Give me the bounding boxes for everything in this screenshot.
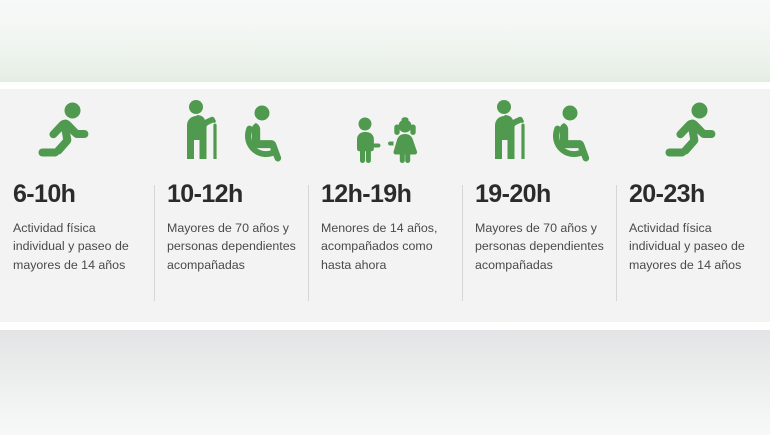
wheelchair-accessibility-icon — [539, 105, 593, 163]
child-girl-icon — [387, 117, 423, 163]
description-4: Mayores de 70 años y personas dependient… — [475, 219, 604, 274]
top-white-gap — [0, 82, 770, 89]
wheelchair-accessibility-icon — [231, 105, 285, 163]
running-person-icon — [37, 101, 97, 163]
hours-label-3: 12h-19h — [321, 182, 450, 207]
schedule-column-3: 12h-19h Menores de 14 años, acompañados … — [308, 89, 462, 322]
description-5: Actividad física individual y paseo de m… — [629, 219, 758, 274]
icon-group-2 — [167, 89, 296, 165]
icon-group-3 — [321, 89, 450, 165]
schedule-column-4: 19-20h Mayores de 70 años y personas dep… — [462, 89, 616, 322]
hours-label-5: 20-23h — [629, 182, 758, 207]
child-boy-icon — [349, 117, 383, 163]
icon-group-5 — [629, 89, 758, 165]
description-1: Actividad física individual y paseo de m… — [13, 219, 142, 274]
schedule-column-1: 6-10h Actividad física individual y pase… — [0, 89, 154, 322]
hours-label-1: 6-10h — [13, 182, 142, 207]
description-3: Menores de 14 años, acompañados como has… — [321, 219, 450, 274]
elderly-person-with-cane-icon — [487, 99, 535, 163]
running-person-icon — [664, 101, 724, 163]
hours-label-4: 19-20h — [475, 182, 604, 207]
icon-group-4 — [475, 89, 604, 165]
description-2: Mayores de 70 años y personas dependient… — [167, 219, 296, 274]
schedule-column-2: 10-12h Mayores de 70 años y personas dep… — [154, 89, 308, 322]
elderly-person-with-cane-icon — [179, 99, 227, 163]
hours-label-2: 10-12h — [167, 182, 296, 207]
schedule-column-5: 20-23h Actividad física individual y pas… — [616, 89, 770, 322]
bottom-white-gap — [0, 322, 770, 330]
bottom-gradient-band — [0, 330, 770, 435]
icon-group-1 — [13, 89, 142, 165]
schedule-card: 6-10h Actividad física individual y pase… — [0, 89, 770, 322]
infographic-page: 6-10h Actividad física individual y pase… — [0, 0, 770, 435]
top-gradient-band — [0, 0, 770, 82]
